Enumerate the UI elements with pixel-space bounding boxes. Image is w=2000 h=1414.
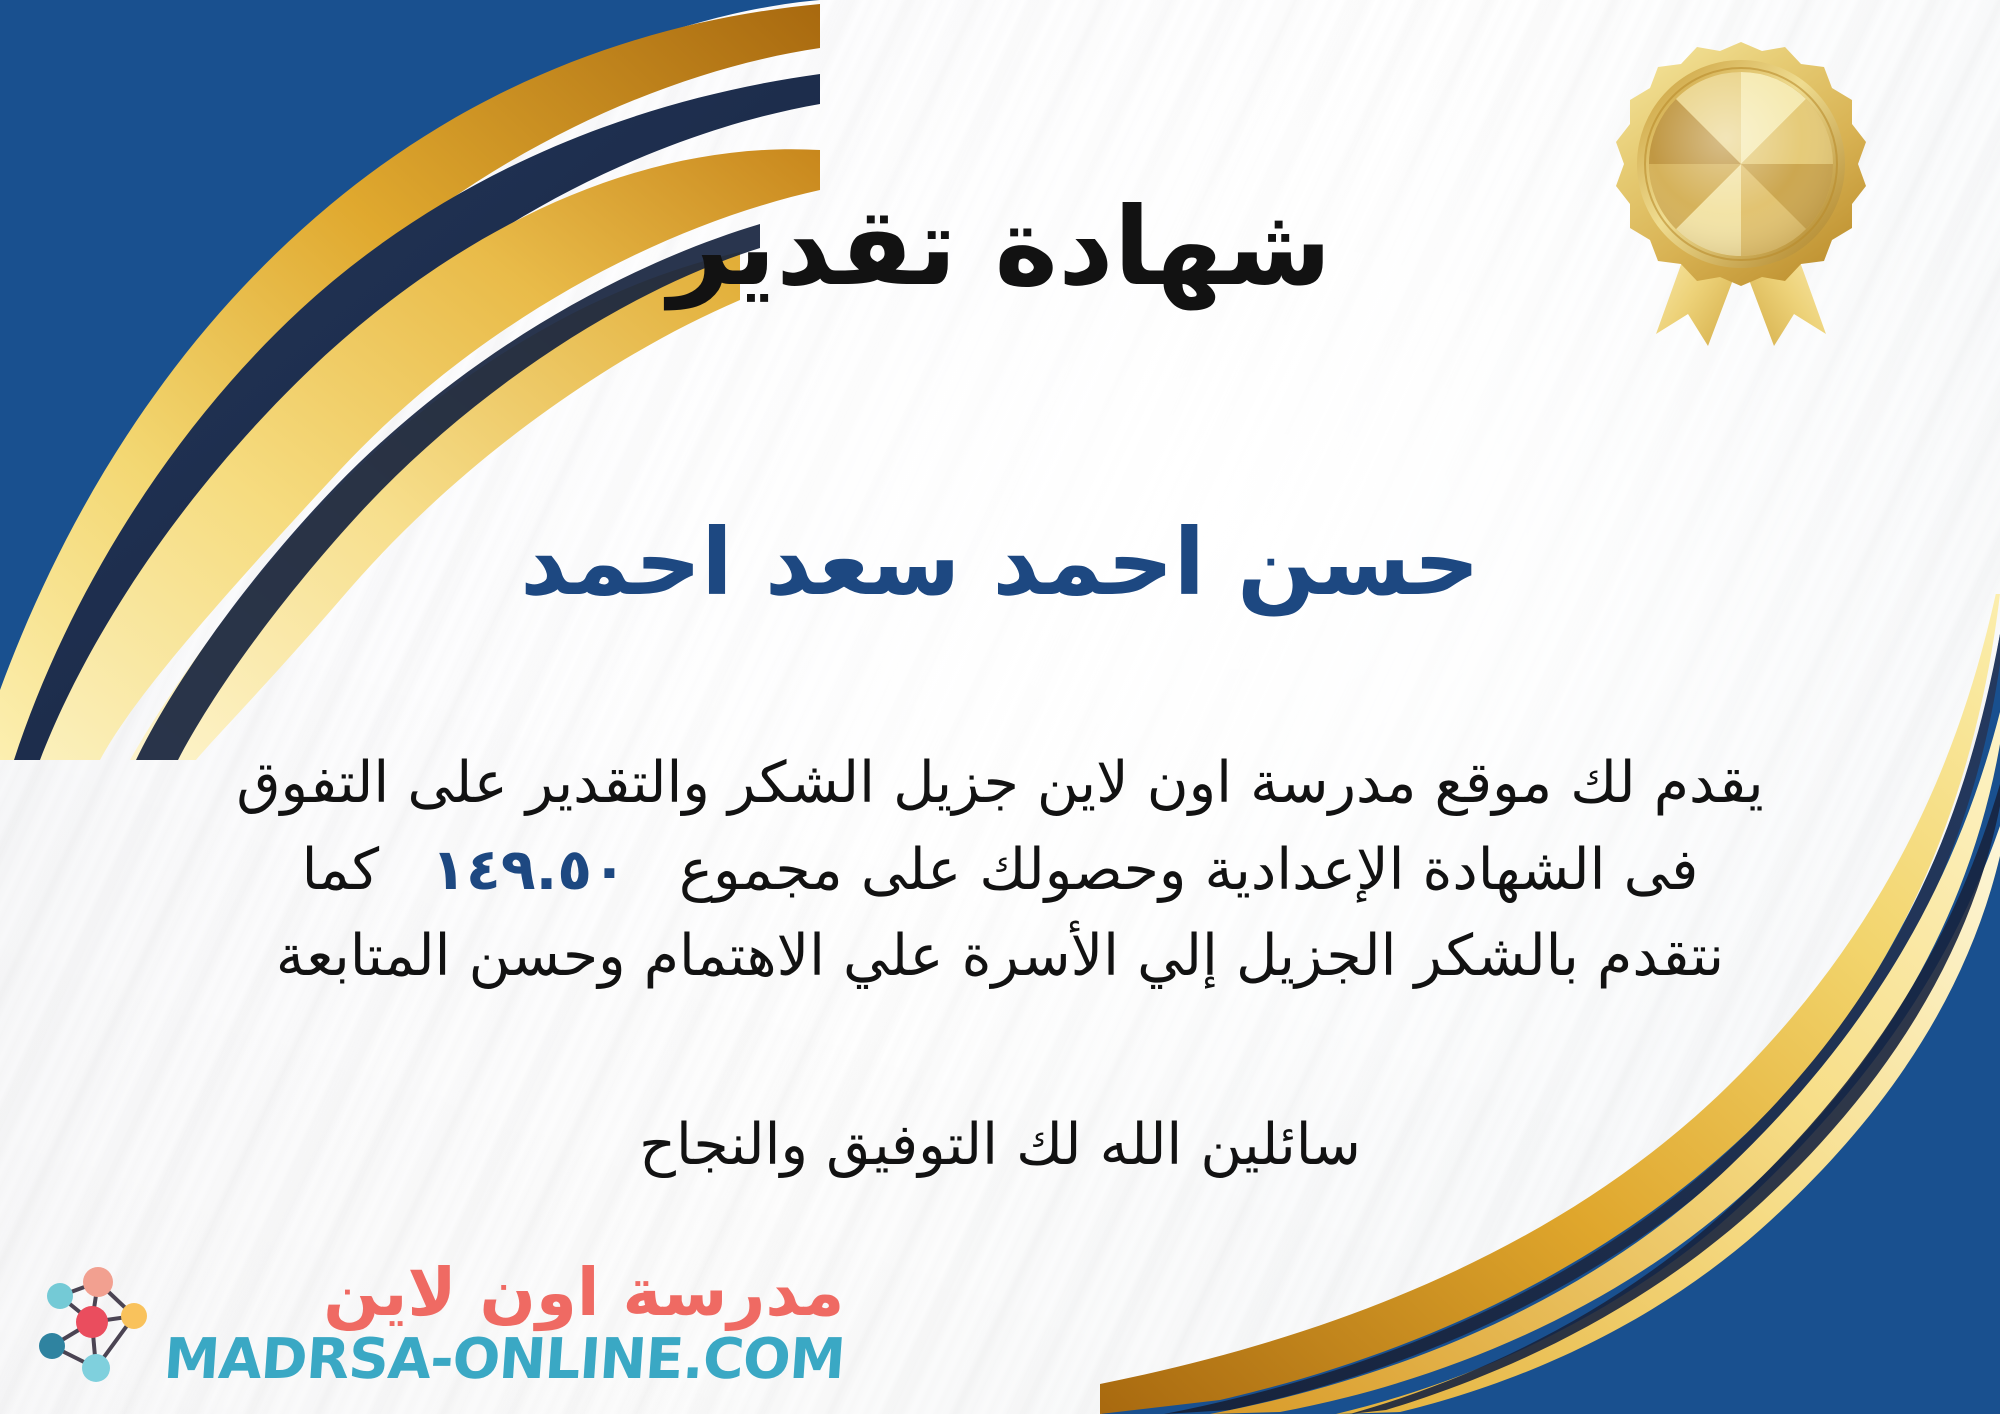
certificate-body: يقدم لك موقع مدرسة اون لاين جزيل الشكر و… [60,740,1940,1000]
network-nodes-icon [26,1260,154,1388]
brand-website-url[interactable]: MADRSA-ONLINE.COM [162,1332,846,1388]
certificate-page: شهادة تقدير حسن احمد سعد احمد يقدم لك مو… [0,0,2000,1414]
brand-text-block: مدرسة اون لاين MADRSA-ONLINE.COM [164,1260,844,1388]
brand-arabic-name: مدرسة اون لاين [323,1260,844,1326]
body-line-2-prefix: فى الشهادة الإعدادية وحصولك على مجموع [679,837,1698,903]
grade-total-value: ١٤٩.٥٠ [397,837,661,903]
certificate-content: شهادة تقدير حسن احمد سعد احمد يقدم لك مو… [0,0,2000,1414]
body-line-1: يقدم لك موقع مدرسة اون لاين جزيل الشكر و… [60,740,1940,827]
recipient-name: حسن احمد سعد احمد [0,508,2000,618]
body-line-2-suffix: كما [302,837,379,903]
body-line-2: فى الشهادة الإعدادية وحصولك على مجموع ١٤… [60,827,1940,914]
brand-logo[interactable]: مدرسة اون لاين MADRSA-ONLINE.COM [26,1260,844,1388]
certificate-title: شهادة تقدير [0,184,2000,311]
closing-wish-line: سائلين الله لك التوفيق والنجاح [0,1112,2000,1178]
body-line-3: نتقدم بالشكر الجزيل إلي الأسرة علي الاهت… [60,913,1940,1000]
